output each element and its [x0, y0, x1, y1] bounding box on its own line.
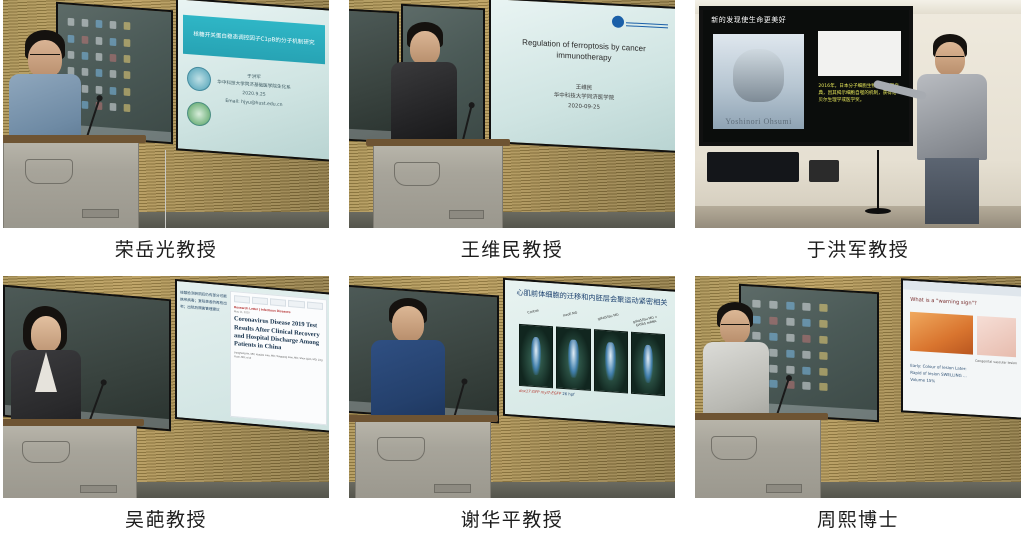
- podium-top-6: [695, 413, 828, 421]
- speaker-legs-3: [925, 158, 979, 224]
- speaker-head-2: [410, 31, 440, 65]
- podium-4: [3, 422, 137, 498]
- caption-5: 谢华平教授: [461, 511, 564, 530]
- podium-6: [695, 416, 821, 498]
- panel-label-3: gata5/fau MO: [591, 311, 627, 329]
- slide-3: 新的发现使生命更美好 Yoshinori Ohsumi 2016年，日本分子细胞…: [703, 10, 909, 142]
- speaker-3: [917, 34, 987, 224]
- av-cart-3: [707, 152, 799, 182]
- podium-plate-2: [449, 210, 484, 219]
- slide-1: 核糖开关蛋白稳态调控因子C1pB的分子机制研究 于洪军 华中科技大学同济基础医学…: [178, 0, 329, 160]
- speaker-glasses-1: [30, 54, 60, 61]
- grid-cell-6: What is a "warning sign"? Congenital vas…: [692, 276, 1024, 552]
- photo-3: 新的发现使生命更美好 Yoshinori Ohsumi 2016年，日本分子细胞…: [695, 0, 1021, 228]
- photo-grid: 核糖开关蛋白稳态调控因子C1pB的分子机制研究 于洪军 华中科技大学同济基础医学…: [0, 0, 1024, 552]
- podium-plate-4: [80, 485, 117, 493]
- slide-left-notes-4: 核酸检测转阴后仍有部分可能携带病毒；复阳患者的再检出率；出院后隔离管理建议: [180, 290, 227, 414]
- podium-plate-1: [82, 209, 119, 218]
- podium-top-2: [366, 139, 509, 147]
- photo-6: What is a "warning sign"? Congenital vas…: [695, 276, 1021, 498]
- photo-2: Regulation of ferroptosis by cancer immu…: [349, 0, 675, 228]
- speaker-glasses-3: [936, 56, 964, 63]
- toolbar-item: [234, 296, 250, 304]
- photo-5: 心肌前体细胞的迁移和内胚层会聚运动紧密相关 Control mzoE MO ga…: [349, 276, 675, 498]
- slide-body-1: 于洪军 华中科技大学同济基础医学院生化系 2020.9.25 Email: hj…: [178, 59, 329, 157]
- toolbar-item: [270, 299, 286, 307]
- slide-portrait-3: Yoshinori Ohsumi: [713, 34, 804, 129]
- podium-1: [3, 138, 139, 228]
- podium-top-4: [3, 419, 144, 426]
- grid-cell-3: 新的发现使生命更美好 Yoshinori Ohsumi 2016年，日本分子细胞…: [692, 0, 1024, 276]
- panel-label-4: gata5/fau MO + GATA5 mRNA: [628, 314, 664, 332]
- screen-right-slide-4: 核酸检测转阴后仍有部分可能携带病毒；复阳患者的再检出率；出院后隔离管理建议 Re…: [175, 279, 329, 433]
- portrait-name-3: Yoshinori Ohsumi: [713, 117, 804, 126]
- slide-6: What is a "warning sign"? Congenital vas…: [903, 280, 1021, 417]
- mic-stand-3: [877, 150, 879, 212]
- slide-image-caption-6: Congenital vascular lesion: [975, 359, 1021, 366]
- speaker-2: [391, 22, 457, 148]
- grid-cell-5: 心肌前体细胞的迁移和内胚层会聚运动紧密相关 Control mzoE MO ga…: [346, 276, 678, 552]
- slide-sub-2: 王维民 华中科技大学同济医学院 2020-09-25: [506, 79, 662, 117]
- logo-circle-icon-2: [612, 16, 624, 29]
- podium-top-5: [349, 415, 498, 423]
- screen-right-slide-2: Regulation of ferroptosis by cancer immu…: [489, 0, 675, 153]
- podium-emblem-4: [22, 441, 70, 464]
- speaker-head-4: [31, 316, 61, 352]
- photo-1: 核糖开关蛋白稳态调控因子C1pB的分子机制研究 于洪军 华中科技大学同济基础医学…: [3, 0, 329, 228]
- grid-cell-4: 核酸检测转阴后仍有部分可能携带病毒；复阳患者的再检出率；出院后隔离管理建议 Re…: [0, 276, 332, 552]
- slide-title-3: 新的发现使生命更美好: [711, 15, 786, 25]
- slide-2: Regulation of ferroptosis by cancer immu…: [491, 0, 675, 151]
- caption-6: 周熙博士: [817, 511, 899, 530]
- podium-emblem-5: [377, 437, 425, 461]
- caption-4: 吴葩教授: [125, 511, 207, 530]
- slide-body-6: Early: Colour of lesion Later: Rapid of …: [910, 361, 976, 387]
- slide-inset-figure-3: [818, 31, 900, 76]
- screen-wall-monitor-3: 新的发现使生命更美好 Yoshinori Ohsumi 2016年，日本分子细胞…: [699, 6, 913, 146]
- photo-4: 核酸检测转阴后仍有部分可能携带病毒；复阳患者的再检出率；出院后隔离管理建议 Re…: [3, 276, 329, 498]
- panel-label-2: mzoE MO: [553, 309, 589, 327]
- figure-caption-gene-a: dox17:GFP: [519, 388, 540, 394]
- screen-right-slide-1: 核糖开关蛋白稳态调控因子C1pB的分子机制研究 于洪军 华中科技大学同济基础医学…: [176, 0, 329, 162]
- figure-panel: [631, 332, 665, 396]
- slide-title-5: 心肌前体细胞的迁移和内胚层会聚运动紧密相关: [514, 287, 671, 308]
- slide-clinical-image-6: [910, 312, 972, 355]
- podium-emblem-2: [394, 162, 440, 186]
- podium-plate-6: [766, 484, 802, 493]
- screen-right-slide-6: What is a "warning sign"? Congenital vas…: [901, 278, 1021, 420]
- toolbar-item: [307, 302, 323, 310]
- figure-caption-gene-b: myl7:EGFP: [541, 390, 562, 396]
- article-headline-4: Coronavirus Disease 2019 Test Results Af…: [234, 316, 323, 357]
- slide-4: 核酸检测转阴后仍有部分可能携带病毒；复阳患者的再检出率；出院后隔离管理建议 Re…: [177, 281, 329, 431]
- speaker-torso-3: [917, 74, 987, 160]
- portrait-face-3: [733, 49, 784, 102]
- slide-title-6: What is a "warning sign"?: [910, 296, 1016, 308]
- slide-logo-2: [612, 13, 668, 34]
- grid-cell-1: 核糖开关蛋白稳态调控因子C1pB的分子机制研究 于洪军 华中科技大学同济基础医学…: [0, 0, 332, 276]
- caption-2: 王维民教授: [461, 241, 564, 260]
- mic-base-3: [865, 208, 891, 214]
- caption-1: 荣岳光教授: [115, 241, 218, 260]
- toolbar-item: [288, 300, 304, 308]
- speaker-glasses-6: [721, 324, 749, 331]
- slide-title-2: Regulation of ferroptosis by cancer immu…: [506, 37, 662, 67]
- slide-article-card-4: Research Letter | Infectious Diseases Ma…: [230, 291, 327, 425]
- podium-5: [355, 418, 491, 498]
- slide-title-1: 核糖开关蛋白稳态调控因子C1pB的分子机制研究: [183, 15, 326, 64]
- cable-1: [165, 150, 166, 228]
- caption-3: 于洪军教授: [807, 241, 910, 260]
- podium-plate-5: [434, 484, 471, 493]
- podium-emblem-6: [711, 436, 757, 460]
- toolbar-item: [252, 297, 268, 305]
- podium-2: [373, 142, 503, 228]
- logo-wordmark-2: [626, 22, 668, 26]
- figure-caption-stage: 26 hpf: [562, 391, 574, 397]
- figure-panel: [556, 326, 590, 390]
- figure-panel: [594, 329, 628, 393]
- slide-5: 心肌前体细胞的迁移和内胚层会聚运动紧密相关 Control mzoE MO ga…: [505, 280, 675, 426]
- speaker-box-3: [809, 160, 839, 182]
- grid-cell-2: Regulation of ferroptosis by cancer immu…: [346, 0, 678, 276]
- slide-clinical-image-alt-6: [977, 316, 1015, 357]
- figure-panel: [519, 324, 553, 388]
- podium-emblem-1: [25, 159, 73, 184]
- panel-label-1: Control: [516, 306, 552, 324]
- screen-right-slide-5: 心肌前体细胞的迁移和内胚层会聚运动紧密相关 Control mzoE MO ga…: [503, 278, 675, 428]
- figure-panels-5: [519, 324, 665, 396]
- podium-top-1: [3, 135, 146, 143]
- speaker-head-5: [392, 306, 424, 342]
